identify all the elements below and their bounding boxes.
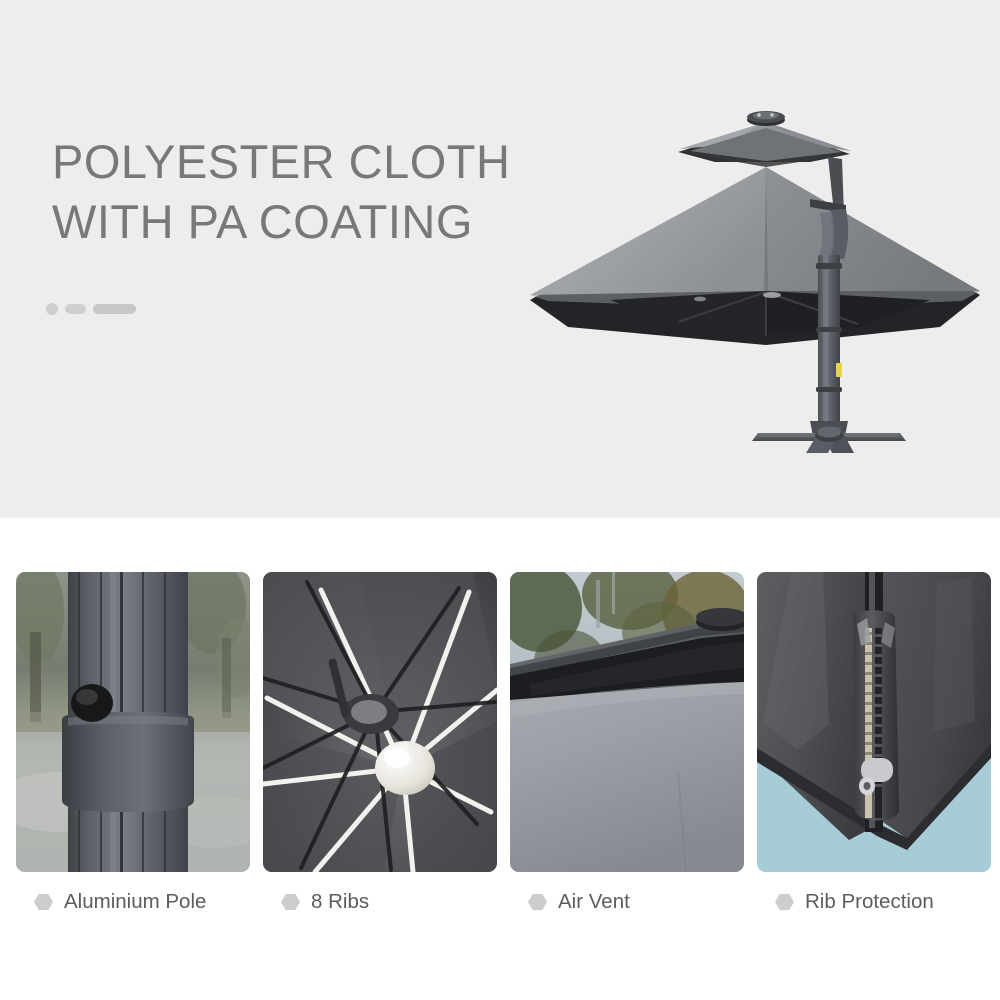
accent-decoration [46,303,136,315]
hexagon-bullet-icon [775,894,794,911]
feature-thumb-8-ribs[interactable] [263,572,497,872]
feature-label-air-vent: Air Vent [510,890,744,914]
hexagon-bullet-icon [528,894,547,911]
feature-thumb-aluminium-pole[interactable] [16,572,250,872]
accent-bar-small-icon [65,304,86,314]
accent-dot-icon [46,303,58,315]
feature-label-row: Aluminium Pole 8 Ribs Air Vent Rib Prote… [16,890,984,914]
hexagon-bullet-icon [281,894,300,911]
feature-label-text: Rib Protection [805,890,934,914]
feature-thumb-rib-protection[interactable] [757,572,991,872]
feature-label-8-ribs: 8 Ribs [263,890,497,914]
feature-label-text: 8 Ribs [311,890,369,914]
page-title: POLYESTER CLOTH WITH PA COATING [52,132,572,251]
feature-label-aluminium-pole: Aluminium Pole [16,890,250,914]
feature-thumbnail-row [16,572,984,872]
feature-label-text: Aluminium Pole [64,890,206,914]
product-image-cantilever-umbrella [510,95,1000,465]
hexagon-bullet-icon [34,894,53,911]
features-section: Aluminium Pole 8 Ribs Air Vent Rib Prote… [0,518,1000,1000]
accent-bar-large-icon [93,304,136,314]
hero-section: POLYESTER CLOTH WITH PA COATING [0,0,1000,518]
feature-label-rib-protection: Rib Protection [757,890,991,914]
feature-label-text: Air Vent [558,890,630,914]
feature-thumb-air-vent[interactable] [510,572,744,872]
